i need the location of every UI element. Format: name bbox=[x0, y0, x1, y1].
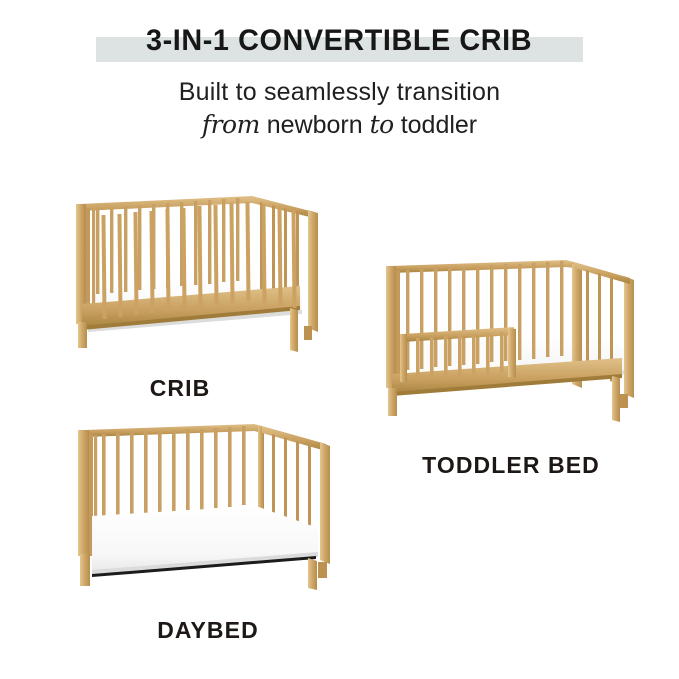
heading-wrap: 3-IN-1 CONVERTIBLE CRIB bbox=[0, 26, 679, 56]
crib-illustration bbox=[52, 182, 332, 362]
product-label-crib: CRIB bbox=[0, 377, 360, 400]
subtitle-line-one: Built to seamlessly transition bbox=[0, 80, 679, 105]
toddler-bed-illustration bbox=[368, 248, 648, 434]
subtitle-line-two: from newborn to toddler bbox=[0, 112, 679, 138]
product-image-toddler-bed bbox=[368, 248, 648, 434]
product-image-crib bbox=[52, 182, 332, 362]
subtitle-plain-newborn: newborn bbox=[267, 111, 363, 139]
product-label-toddler-bed: TODDLER BED bbox=[380, 454, 642, 477]
product-image-daybed bbox=[58, 412, 354, 600]
page-title: 3-IN-1 CONVERTIBLE CRIB bbox=[139, 26, 540, 56]
daybed-illustration bbox=[58, 412, 354, 600]
subtitle-script-from: from bbox=[202, 110, 260, 139]
header-block: 3-IN-1 CONVERTIBLE CRIB Built to seamles… bbox=[0, 0, 679, 160]
product-label-daybed: DAYBED bbox=[50, 619, 366, 642]
subtitle-plain-toddler: toddler bbox=[401, 111, 477, 139]
subtitle-script-to: to bbox=[370, 110, 394, 139]
